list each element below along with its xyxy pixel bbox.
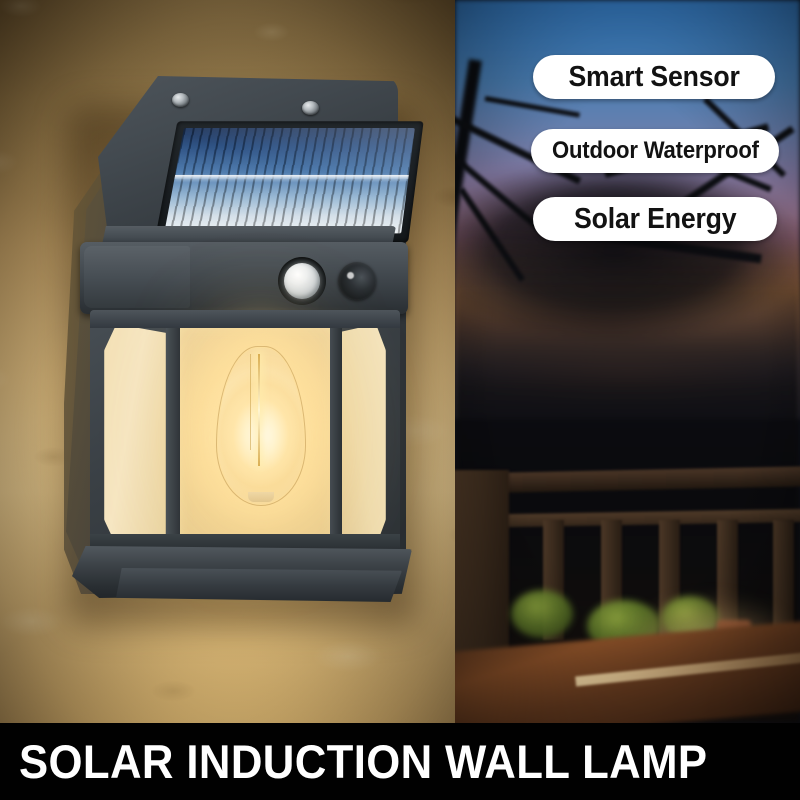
feature-badge-solar-energy: Solar Energy (533, 197, 777, 241)
solar-panel (154, 121, 423, 242)
solar-wall-lamp (62, 70, 422, 610)
feature-badge-outdoor-waterproof: Outdoor Waterproof (531, 129, 779, 173)
feature-badge-label: Outdoor Waterproof (552, 137, 759, 165)
banner-title: SOLAR INDUCTION WALL LAMP (19, 738, 707, 785)
pir-motion-sensor (278, 257, 326, 305)
feature-badge-label: Solar Energy (574, 203, 736, 236)
lantern-mullion-right (330, 318, 342, 552)
glass-panel-right (336, 324, 386, 546)
solar-panel-gloss (164, 128, 415, 233)
solar-panel-glass (164, 128, 415, 233)
sensor-bar-tab (84, 246, 190, 308)
bulb-neck (248, 492, 274, 502)
top-screw-left (172, 93, 189, 107)
glass-lantern-housing (90, 310, 400, 560)
product-photo-panel (0, 0, 455, 723)
bulb-filament (258, 354, 260, 466)
pir-sensor-dome (284, 263, 320, 299)
light-sensor (338, 262, 376, 300)
bottom-title-banner: SOLAR INDUCTION WALL LAMP (0, 723, 800, 800)
feature-badge-group: Smart Sensor Outdoor Waterproof Solar En… (455, 0, 800, 260)
feature-badge-smart-sensor: Smart Sensor (533, 55, 775, 99)
bulb-filament-wire (250, 354, 251, 450)
lantern-mullion-left (166, 318, 180, 552)
top-screw-right (302, 101, 319, 115)
feature-badge-label: Smart Sensor (568, 61, 739, 94)
lantern-top-rail (90, 310, 400, 328)
base-slab-front (116, 568, 402, 602)
product-banner-image: Smart Sensor Outdoor Waterproof Solar En… (0, 0, 800, 800)
glass-panel-left (104, 324, 166, 546)
